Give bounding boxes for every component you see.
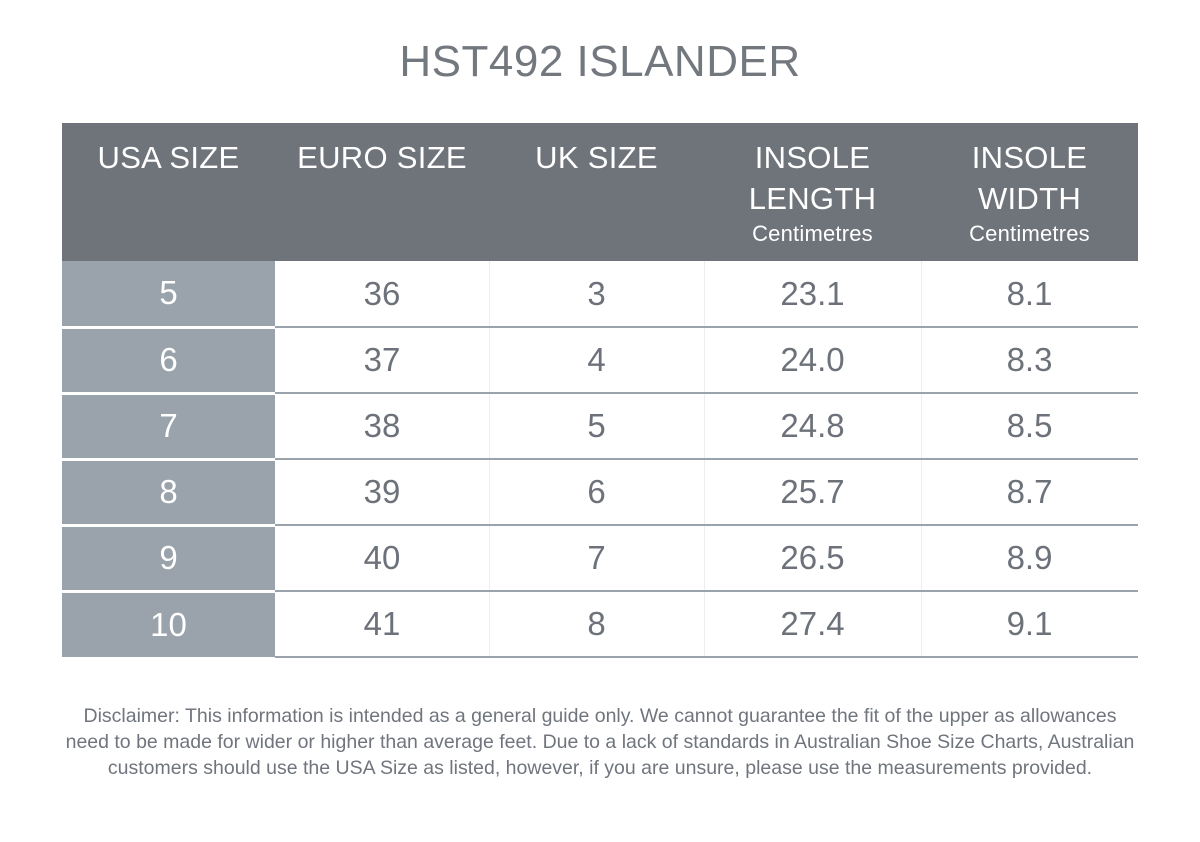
cell-usa-size: 7 bbox=[62, 393, 275, 459]
cell-euro-size: 39 bbox=[275, 459, 489, 525]
cell-uk-size: 3 bbox=[489, 261, 704, 327]
cell-insole-length: 25.7 bbox=[704, 459, 921, 525]
size-chart-page: HST492 ISLANDER USA SIZE EURO SIZE UK SI… bbox=[0, 0, 1200, 842]
cell-insole-length: 27.4 bbox=[704, 591, 921, 657]
cell-euro-size: 38 bbox=[275, 393, 489, 459]
page-title: HST492 ISLANDER bbox=[0, 32, 1200, 92]
column-header-uk-size: UK SIZE bbox=[489, 123, 704, 261]
column-header-insole-length-label: INSOLE LENGTH bbox=[708, 137, 917, 219]
cell-uk-size: 4 bbox=[489, 327, 704, 393]
cell-insole-length: 23.1 bbox=[704, 261, 921, 327]
cell-usa-size: 5 bbox=[62, 261, 275, 327]
column-header-insole-length: INSOLE LENGTH Centimetres bbox=[704, 123, 921, 261]
column-header-insole-width-unit: Centimetres bbox=[925, 219, 1134, 249]
table-header-row: USA SIZE EURO SIZE UK SIZE INSOLE LENGTH… bbox=[62, 123, 1138, 261]
table-row: 7 38 5 24.8 8.5 bbox=[62, 393, 1138, 459]
cell-euro-size: 40 bbox=[275, 525, 489, 591]
cell-euro-size: 41 bbox=[275, 591, 489, 657]
size-chart-table: USA SIZE EURO SIZE UK SIZE INSOLE LENGTH… bbox=[62, 123, 1138, 658]
table-row: 6 37 4 24.0 8.3 bbox=[62, 327, 1138, 393]
column-header-euro-size-label: EURO SIZE bbox=[279, 137, 485, 178]
cell-insole-width: 8.5 bbox=[921, 393, 1138, 459]
column-header-usa-size-label: USA SIZE bbox=[66, 137, 271, 178]
table-row: 5 36 3 23.1 8.1 bbox=[62, 261, 1138, 327]
column-header-insole-length-unit: Centimetres bbox=[708, 219, 917, 249]
cell-euro-size: 37 bbox=[275, 327, 489, 393]
cell-insole-width: 8.7 bbox=[921, 459, 1138, 525]
cell-insole-width: 9.1 bbox=[921, 591, 1138, 657]
cell-uk-size: 8 bbox=[489, 591, 704, 657]
cell-insole-width: 8.1 bbox=[921, 261, 1138, 327]
cell-uk-size: 7 bbox=[489, 525, 704, 591]
cell-insole-length: 24.8 bbox=[704, 393, 921, 459]
column-header-usa-size: USA SIZE bbox=[62, 123, 275, 261]
cell-usa-size: 6 bbox=[62, 327, 275, 393]
column-header-insole-width: INSOLE WIDTH Centimetres bbox=[921, 123, 1138, 261]
table-row: 8 39 6 25.7 8.7 bbox=[62, 459, 1138, 525]
table-row: 10 41 8 27.4 9.1 bbox=[62, 591, 1138, 657]
table-header: USA SIZE EURO SIZE UK SIZE INSOLE LENGTH… bbox=[62, 123, 1138, 261]
disclaimer-text: Disclaimer: This information is intended… bbox=[60, 703, 1140, 781]
column-header-euro-size: EURO SIZE bbox=[275, 123, 489, 261]
cell-usa-size: 8 bbox=[62, 459, 275, 525]
table-row: 9 40 7 26.5 8.9 bbox=[62, 525, 1138, 591]
cell-uk-size: 6 bbox=[489, 459, 704, 525]
cell-uk-size: 5 bbox=[489, 393, 704, 459]
cell-insole-length: 26.5 bbox=[704, 525, 921, 591]
column-header-insole-width-label: INSOLE WIDTH bbox=[925, 137, 1134, 219]
cell-insole-width: 8.3 bbox=[921, 327, 1138, 393]
column-header-uk-size-label: UK SIZE bbox=[493, 137, 700, 178]
cell-usa-size: 9 bbox=[62, 525, 275, 591]
cell-insole-width: 8.9 bbox=[921, 525, 1138, 591]
cell-usa-size: 10 bbox=[62, 591, 275, 657]
cell-euro-size: 36 bbox=[275, 261, 489, 327]
table-body: 5 36 3 23.1 8.1 6 37 4 24.0 8.3 7 38 5 2… bbox=[62, 261, 1138, 657]
cell-insole-length: 24.0 bbox=[704, 327, 921, 393]
